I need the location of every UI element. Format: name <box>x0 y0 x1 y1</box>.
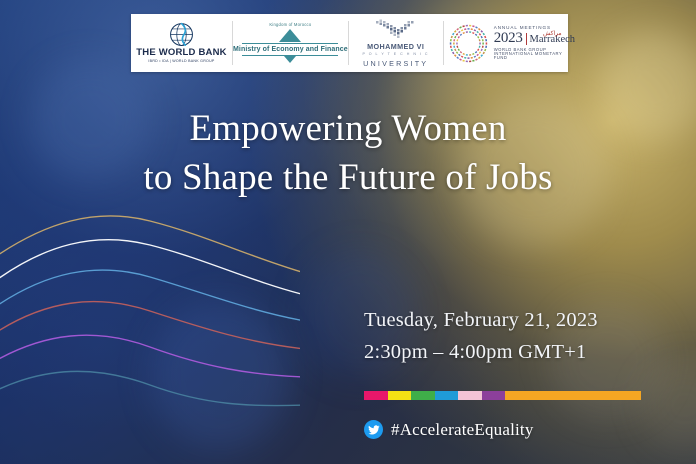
world-bank-subtitle: IBRD • IDA | WORLD BANK GROUP <box>148 60 214 64</box>
university-name-line1: MOHAMMED VI <box>367 43 424 50</box>
color-bar-segment <box>458 391 482 400</box>
logo-morocco-ministry: Kingdom of Morocco Ministry of Economy a… <box>233 14 348 72</box>
color-bar-segment <box>411 391 435 400</box>
event-banner: THE WORLD BANK IBRD • IDA | WORLD BANK G… <box>0 0 696 464</box>
city-name-arabic: مراكش <box>530 31 575 37</box>
color-bar-segment <box>435 391 459 400</box>
triangle-down-icon <box>284 56 296 63</box>
color-bar-segment <box>364 391 388 400</box>
kingdom-of-morocco-label: Kingdom of Morocco <box>269 23 311 27</box>
annual-meetings-city: مراكش Marrakech <box>530 35 575 46</box>
logo-divider <box>526 33 527 45</box>
logo-annual-meetings-2023: ANNUAL MEETINGS 2023 مراكش Marrakech WOR… <box>444 14 575 72</box>
decorative-wave-lines <box>0 215 300 464</box>
logo-world-bank: THE WORLD BANK IBRD • IDA | WORLD BANK G… <box>131 14 232 72</box>
event-details: Tuesday, February 21, 2023 2:30pm – 4:00… <box>364 305 664 440</box>
accent-color-bar <box>364 391 641 400</box>
university-name-line3: UNIVERSITY <box>363 60 428 67</box>
ministry-name: Ministry of Economy and Finance <box>233 46 348 53</box>
color-bar-segment <box>482 391 506 400</box>
event-title: Empowering Women to Shape the Future of … <box>0 104 696 202</box>
event-date: Tuesday, February 21, 2023 <box>364 305 664 337</box>
event-hashtag: #AccelerateEquality <box>391 420 534 440</box>
flag-wheel-icon <box>448 23 489 64</box>
event-time: 2:30pm – 4:00pm GMT+1 <box>364 337 664 369</box>
org-imf: INTERNATIONAL MONETARY FUND <box>494 52 575 60</box>
annual-meetings-year: 2023 <box>494 31 523 46</box>
mosaic-check-icon <box>375 19 417 41</box>
color-bar-segment <box>505 391 641 400</box>
twitter-bird-icon[interactable] <box>364 420 383 439</box>
sponsor-logo-bar: THE WORLD BANK IBRD • IDA | WORLD BANK G… <box>131 14 568 72</box>
color-bar-segment <box>388 391 412 400</box>
event-title-line2: to Shape the Future of Jobs <box>0 153 696 202</box>
bokeh-blob <box>150 300 290 450</box>
globe-icon <box>169 22 194 47</box>
social-hashtag-row: #AccelerateEquality <box>364 420 664 440</box>
university-name-line2: P O L Y T E C H N I C <box>362 53 429 57</box>
logo-um6p-university: MOHAMMED VI P O L Y T E C H N I C UNIVER… <box>349 14 443 72</box>
triangle-emblem-icon <box>233 29 348 46</box>
world-bank-name: THE WORLD BANK <box>136 48 226 58</box>
event-title-line1: Empowering Women <box>0 104 696 153</box>
